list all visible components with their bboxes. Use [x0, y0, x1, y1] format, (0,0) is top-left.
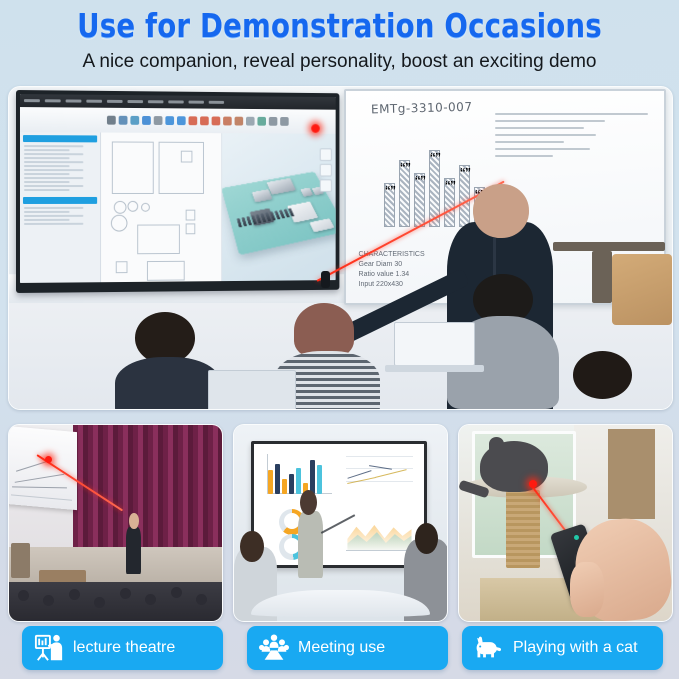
attendee-laptop — [394, 322, 476, 366]
page-subtitle: A nice companion, reveal personality, bo… — [0, 46, 679, 74]
meeting-use-photo — [233, 424, 448, 622]
header: Use for Demonstration Occasions A nice c… — [0, 0, 679, 84]
attendee-left-head — [240, 531, 263, 562]
cat-tree-post — [506, 490, 540, 568]
whiteboard-title: EMTg-3310-007 — [371, 100, 473, 117]
playing-with-cat-photo — [458, 424, 673, 622]
app-toolbar — [20, 107, 335, 134]
presentation-screen — [251, 441, 427, 569]
thumb — [570, 562, 604, 617]
cat-icon — [474, 633, 504, 663]
schematic-canvas — [100, 132, 221, 282]
line-chart — [343, 450, 416, 502]
caption-meeting-use[interactable]: Meeting use — [247, 626, 448, 670]
drone-equipment — [553, 242, 666, 252]
dashboard — [263, 450, 416, 559]
wall-panel — [608, 429, 655, 519]
chair — [612, 254, 672, 325]
presenter-remote — [321, 271, 330, 288]
attendee-laptop — [208, 370, 296, 410]
caption-label: Meeting use — [298, 639, 385, 657]
whiteboard-notes — [495, 108, 648, 162]
3d-board-viewport — [222, 133, 335, 281]
projection-screen — [8, 426, 77, 511]
viewport-nav-controls[interactable] — [320, 148, 332, 192]
hero-photo: EMTg-3310-007 CHARACTERISTICS Gear Diam … — [8, 86, 673, 410]
product-infographic: Use for Demonstration Occasions A nice c… — [0, 0, 679, 679]
cat-ear — [489, 437, 504, 451]
whiteboard-sketch — [384, 146, 485, 227]
page-title: Use for Demonstration Occasions — [24, 0, 655, 46]
drone-equipment — [592, 251, 612, 303]
circuit-board-render — [222, 172, 335, 255]
caption-lecture-theatre[interactable]: lecture theatre — [22, 626, 223, 670]
caption-label: Playing with a cat — [513, 639, 638, 657]
auditorium-audience — [9, 582, 222, 621]
project-sidebar — [20, 132, 101, 283]
meeting-table-icon — [259, 633, 289, 663]
display-screen — [20, 94, 335, 283]
caption-label: lecture theatre — [73, 639, 175, 657]
app-workspace — [20, 132, 335, 283]
lecture-theatre-photo — [8, 424, 223, 622]
caption-playing-with-cat[interactable]: Playing with a cat — [462, 626, 663, 670]
conference-table — [251, 590, 430, 617]
stage-curtain — [73, 425, 222, 566]
interactive-display — [16, 90, 339, 293]
classroom-scene: EMTg-3310-007 CHARACTERISTICS Gear Diam … — [9, 87, 672, 409]
presenter-easel-icon — [34, 633, 64, 663]
remote-power-led — [574, 535, 579, 540]
podium — [11, 543, 30, 578]
bar-chart — [263, 450, 336, 502]
